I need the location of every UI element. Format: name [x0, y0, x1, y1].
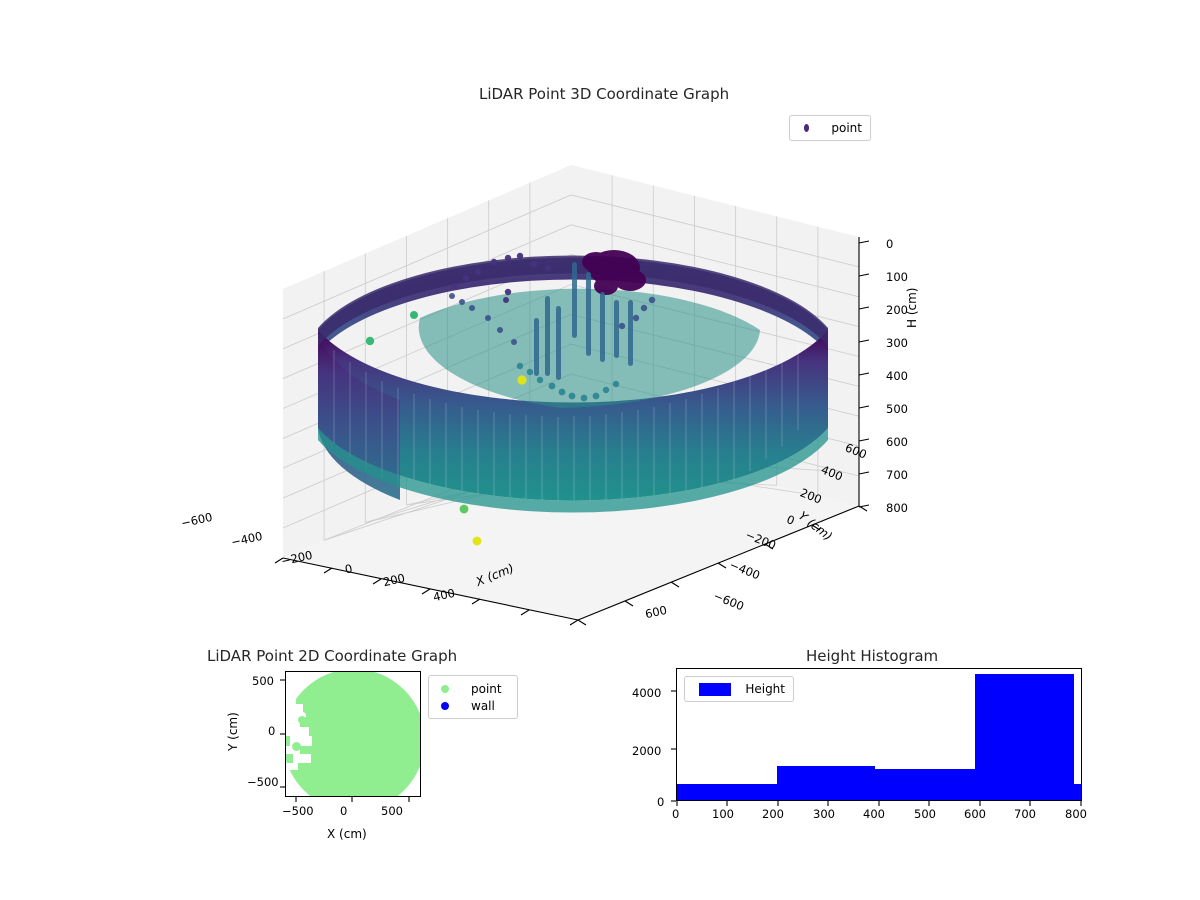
axis-z-3d-tick-0: 0: [886, 237, 893, 251]
axis-y-2d-tick-0: −500: [247, 775, 279, 789]
axis-x-2d-tick-1: 0: [340, 804, 347, 818]
axis-z-3d-tick-8: 800: [886, 501, 908, 515]
disk-notch-8: [286, 763, 298, 770]
axis-x-hist-tick-1: 100: [712, 807, 734, 821]
disk-notch-10: [298, 716, 306, 724]
axis-z-3d-tick-6: 600: [886, 435, 908, 449]
panel-2d-title: LiDAR Point 2D Coordinate Graph: [207, 647, 457, 665]
axis-z-3d-tick-3: 300: [886, 336, 908, 350]
axis-x-hist-tick-7: 700: [1014, 807, 1036, 821]
legend-label-height: Height: [745, 682, 785, 696]
panel-hist-title: Height Histogram: [806, 647, 938, 665]
axis-z-3d-label: H (cm): [905, 288, 919, 329]
disk-notch-7: [293, 754, 311, 763]
axis-y-hist-tick-0: 0: [657, 795, 664, 809]
axis-y-hist-tick-1: 2000: [632, 744, 661, 758]
axis-z-3d-tick-4: 400: [886, 369, 908, 383]
legend-2d[interactable]: point wall: [428, 675, 518, 719]
legend-row-point-2d[interactable]: point: [437, 680, 509, 697]
legend-marker-point-2d: [441, 685, 449, 693]
axis-z-3d-tick-1: 100: [886, 270, 908, 284]
axis-x-hist-tick-3: 300: [813, 807, 835, 821]
axis-y-hist-tick-2: 4000: [632, 686, 661, 700]
disk-notch-9: [286, 692, 296, 704]
axis-y-2d-tick-1: 0: [268, 724, 275, 738]
axis-x-2d-label: X (cm): [327, 827, 367, 841]
plot-2d-scatter[interactable]: [285, 671, 421, 797]
axis-y-2d-tick-2: 500: [252, 674, 274, 688]
axis-x-hist-tick-8: 800: [1065, 807, 1087, 821]
legend-row-wall-2d[interactable]: wall: [437, 697, 509, 714]
disk-notch-11: [292, 742, 301, 751]
legend-marker-wall-2d: [441, 702, 449, 710]
axis-x-hist-tick-0: 0: [672, 807, 679, 821]
disk-notch-4: [286, 727, 309, 736]
axis-z-3d-tick-5: 500: [886, 402, 908, 416]
hist-bar-0: [677, 784, 777, 800]
hist-bar-2: [875, 769, 975, 800]
axis-x-hist-tick-6: 600: [964, 807, 986, 821]
legend-patch-height: [699, 683, 731, 696]
hist-bar-1: [777, 766, 876, 800]
axis-z-3d-ticks: [859, 241, 869, 507]
axis-z-3d-tick-7: 700: [886, 468, 908, 482]
axis-x-hist-tick-5: 500: [914, 807, 936, 821]
legend-hist[interactable]: Height: [684, 676, 794, 702]
legend-label-point-2d: point: [471, 682, 502, 696]
axis-x-2d-tick-2: 500: [381, 804, 403, 818]
hist-bar-4: [1074, 784, 1081, 800]
axis-x-hist-tick-2: 200: [762, 807, 784, 821]
hist-bar-3: [975, 674, 1075, 800]
figure-canvas: LiDAR Point 3D Coordinate Graph point: [0, 0, 1200, 900]
legend-label-wall-2d: wall: [471, 699, 495, 713]
axis-x-hist-tick-4: 400: [863, 807, 885, 821]
axis-y-2d-label: Y (cm): [226, 712, 240, 751]
axis-x-2d-tick-0: −500: [282, 804, 314, 818]
disk-notch-1: [286, 704, 303, 712]
